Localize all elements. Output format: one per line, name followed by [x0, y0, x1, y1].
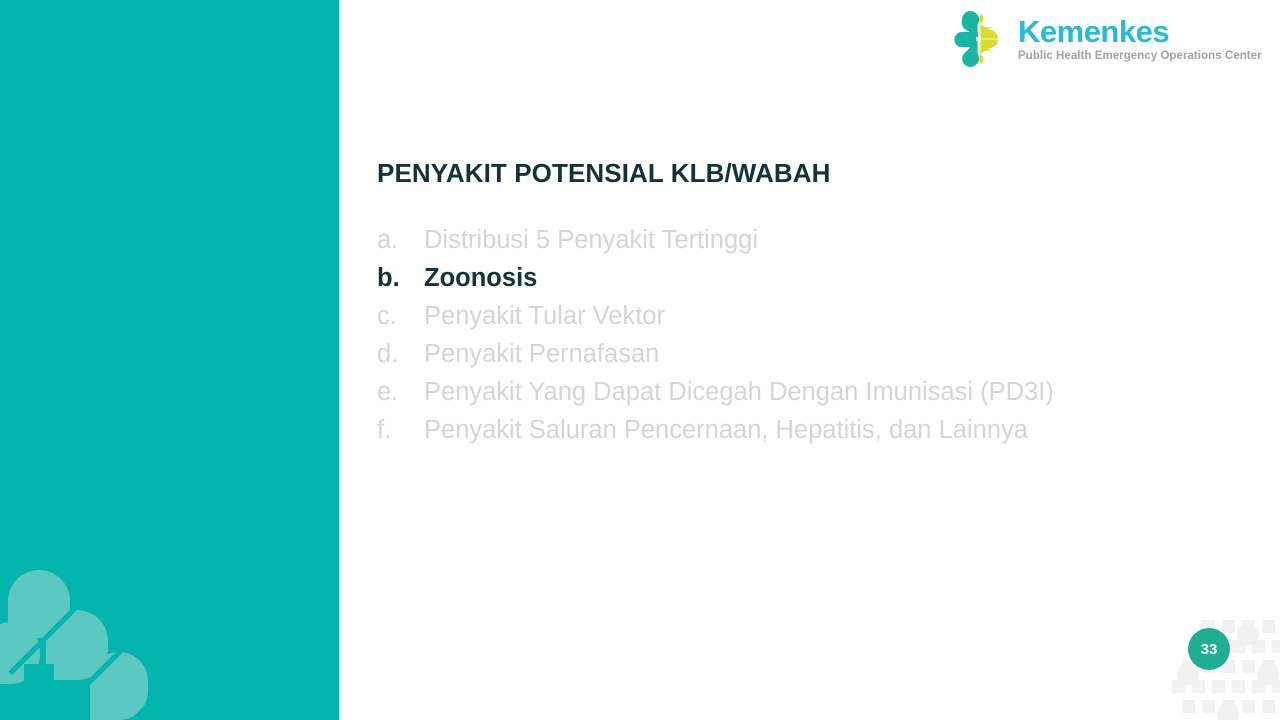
presentation-slide: Kemenkes Public Health Emergency Operati…: [0, 0, 1280, 720]
agenda-item-marker: e.: [377, 374, 424, 412]
agenda-item-label: Penyakit Tular Vektor: [424, 298, 1237, 336]
agenda-item-label: Penyakit Yang Dapat Dicegah Dengan Imuni…: [424, 374, 1237, 412]
agenda-item-marker: b.: [377, 260, 424, 298]
agenda-item[interactable]: d.Penyakit Pernafasan: [377, 336, 1237, 374]
slide-content: PENYAKIT POTENSIAL KLB/WABAH a.Distribus…: [377, 158, 1237, 450]
logo-wordmark: Kemenkes: [1018, 16, 1262, 49]
page-title: PENYAKIT POTENSIAL KLB/WABAH: [377, 158, 1237, 189]
logo-text-block: Kemenkes Public Health Emergency Operati…: [1018, 14, 1262, 63]
agenda-item-marker: d.: [377, 336, 424, 374]
agenda-item-label: Penyakit Pernafasan: [424, 336, 1237, 374]
agenda-item-marker: a.: [377, 222, 424, 260]
left-accent-panel: [0, 0, 339, 720]
agenda-item-label: Zoonosis: [424, 260, 1237, 298]
agenda-item-active[interactable]: b.Zoonosis: [377, 260, 1237, 298]
agenda-list: a.Distribusi 5 Penyakit Tertinggib.Zoono…: [377, 222, 1237, 450]
agenda-item-marker: c.: [377, 298, 424, 336]
kemenkes-logo: Kemenkes Public Health Emergency Operati…: [950, 6, 1280, 72]
petal-decoration-group: [0, 560, 150, 720]
agenda-item-label: Penyakit Saluran Pencernaan, Hepatitis, …: [424, 412, 1237, 450]
agenda-item-label: Distribusi 5 Penyakit Tertinggi: [424, 222, 1237, 260]
kemenkes-clover-logo-icon: [950, 10, 1008, 68]
notch-block-1: [24, 664, 54, 694]
agenda-item[interactable]: c.Penyakit Tular Vektor: [377, 298, 1237, 336]
agenda-item-marker: f.: [377, 412, 424, 450]
notch-block-2: [0, 690, 26, 720]
logo-tagline: Public Health Emergency Operations Cente…: [1018, 50, 1262, 64]
agenda-item[interactable]: f.Penyakit Saluran Pencernaan, Hepatitis…: [377, 412, 1237, 450]
agenda-item[interactable]: e.Penyakit Yang Dapat Dicegah Dengan Imu…: [377, 374, 1237, 412]
page-number-badge: 33: [1188, 628, 1230, 670]
agenda-item[interactable]: a.Distribusi 5 Penyakit Tertinggi: [377, 222, 1237, 260]
